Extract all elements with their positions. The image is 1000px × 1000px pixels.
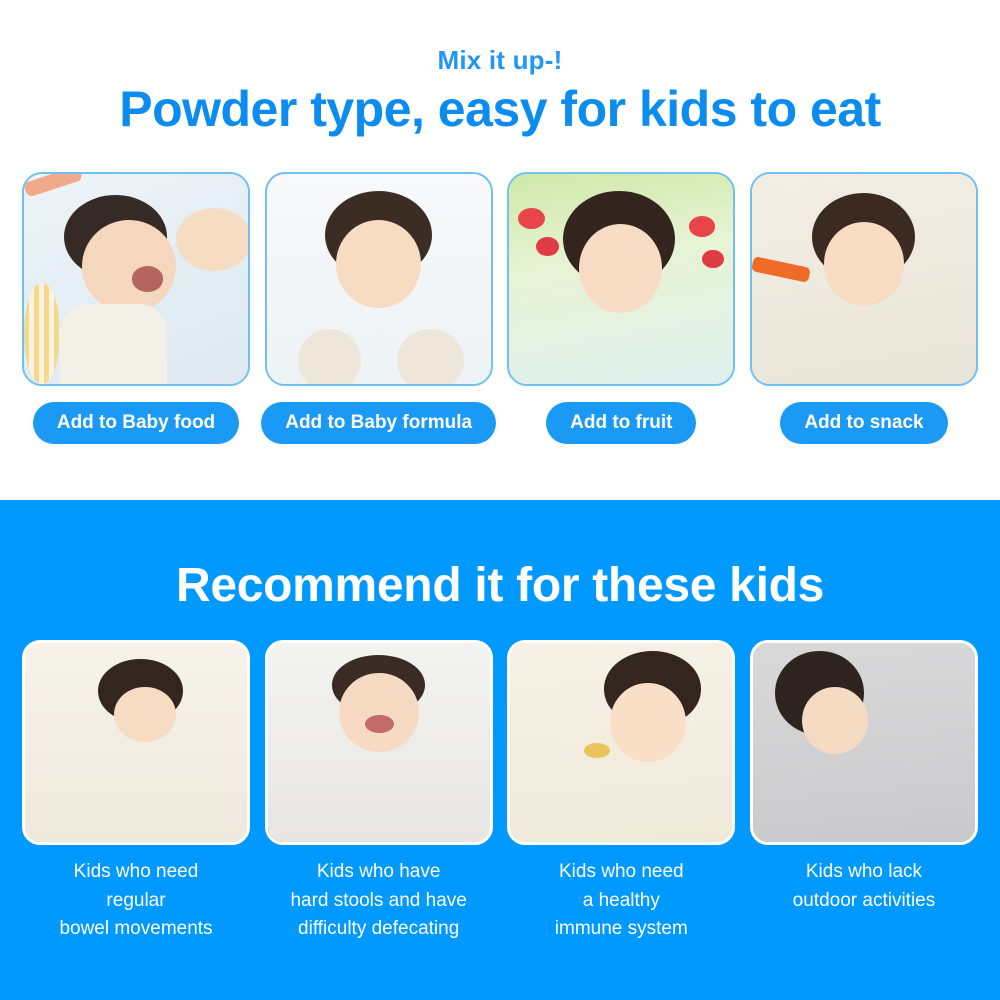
usage-card-baby-food bbox=[22, 172, 250, 386]
girl-eating-strawberry-photo bbox=[509, 174, 733, 384]
recommendation-card-bowel bbox=[22, 640, 250, 845]
usage-label-cell: Add to fruit bbox=[507, 400, 735, 446]
usage-label-cell: Add to snack bbox=[750, 400, 978, 446]
usage-label-cell: Add to Baby formula bbox=[265, 400, 493, 446]
product-infographic: Mix it up-! Powder type, easy for kids t… bbox=[0, 0, 1000, 1000]
pill-add-to-fruit[interactable]: Add to fruit bbox=[546, 402, 696, 444]
girl-straining-crying-photo bbox=[268, 643, 490, 842]
usage-card-fruit bbox=[507, 172, 735, 386]
toddler-sitting-on-potty-photo bbox=[25, 643, 247, 842]
baby-eating-baby-food-photo bbox=[24, 174, 248, 384]
recommendation-photo-row bbox=[22, 640, 978, 845]
usage-card-baby-formula bbox=[265, 172, 493, 386]
recommendation-card-hard-stools bbox=[265, 640, 493, 845]
recommendation-card-outdoor bbox=[750, 640, 978, 845]
recommendation-card-immune bbox=[507, 640, 735, 845]
recommendation-caption-row: Kids who need regular bowel movements Ki… bbox=[22, 858, 978, 944]
girl-using-laptop-indoors-photo bbox=[753, 643, 975, 842]
girl-eating-snack-bowl-photo bbox=[752, 174, 976, 384]
powder-type-section: Mix it up-! Powder type, easy for kids t… bbox=[0, 0, 1000, 500]
pill-add-to-baby-food[interactable]: Add to Baby food bbox=[33, 402, 239, 444]
caption-immune-system: Kids who need a healthy immune system bbox=[507, 858, 735, 944]
section-eyebrow: Mix it up-! bbox=[0, 45, 1000, 76]
caption-bowel-movements: Kids who need regular bowel movements bbox=[22, 858, 250, 944]
page-title: Powder type, easy for kids to eat bbox=[0, 80, 1000, 138]
usage-photo-row bbox=[22, 172, 978, 386]
caption-outdoor-activities: Kids who lack outdoor activities bbox=[750, 858, 978, 944]
boy-eating-meal-photo bbox=[510, 643, 732, 842]
baby-drinking-formula-bottle-photo bbox=[267, 174, 491, 384]
section-title: Recommend it for these kids bbox=[0, 558, 1000, 613]
usage-card-snack bbox=[750, 172, 978, 386]
pill-add-to-baby-formula[interactable]: Add to Baby formula bbox=[261, 402, 496, 444]
caption-hard-stools: Kids who have hard stools and have diffi… bbox=[265, 858, 493, 944]
recommended-kids-section: Recommend it for these kids bbox=[0, 500, 1000, 1000]
usage-label-cell: Add to Baby food bbox=[22, 400, 250, 446]
usage-label-row: Add to Baby food Add to Baby formula Add… bbox=[22, 400, 978, 446]
pill-add-to-snack[interactable]: Add to snack bbox=[780, 402, 947, 444]
